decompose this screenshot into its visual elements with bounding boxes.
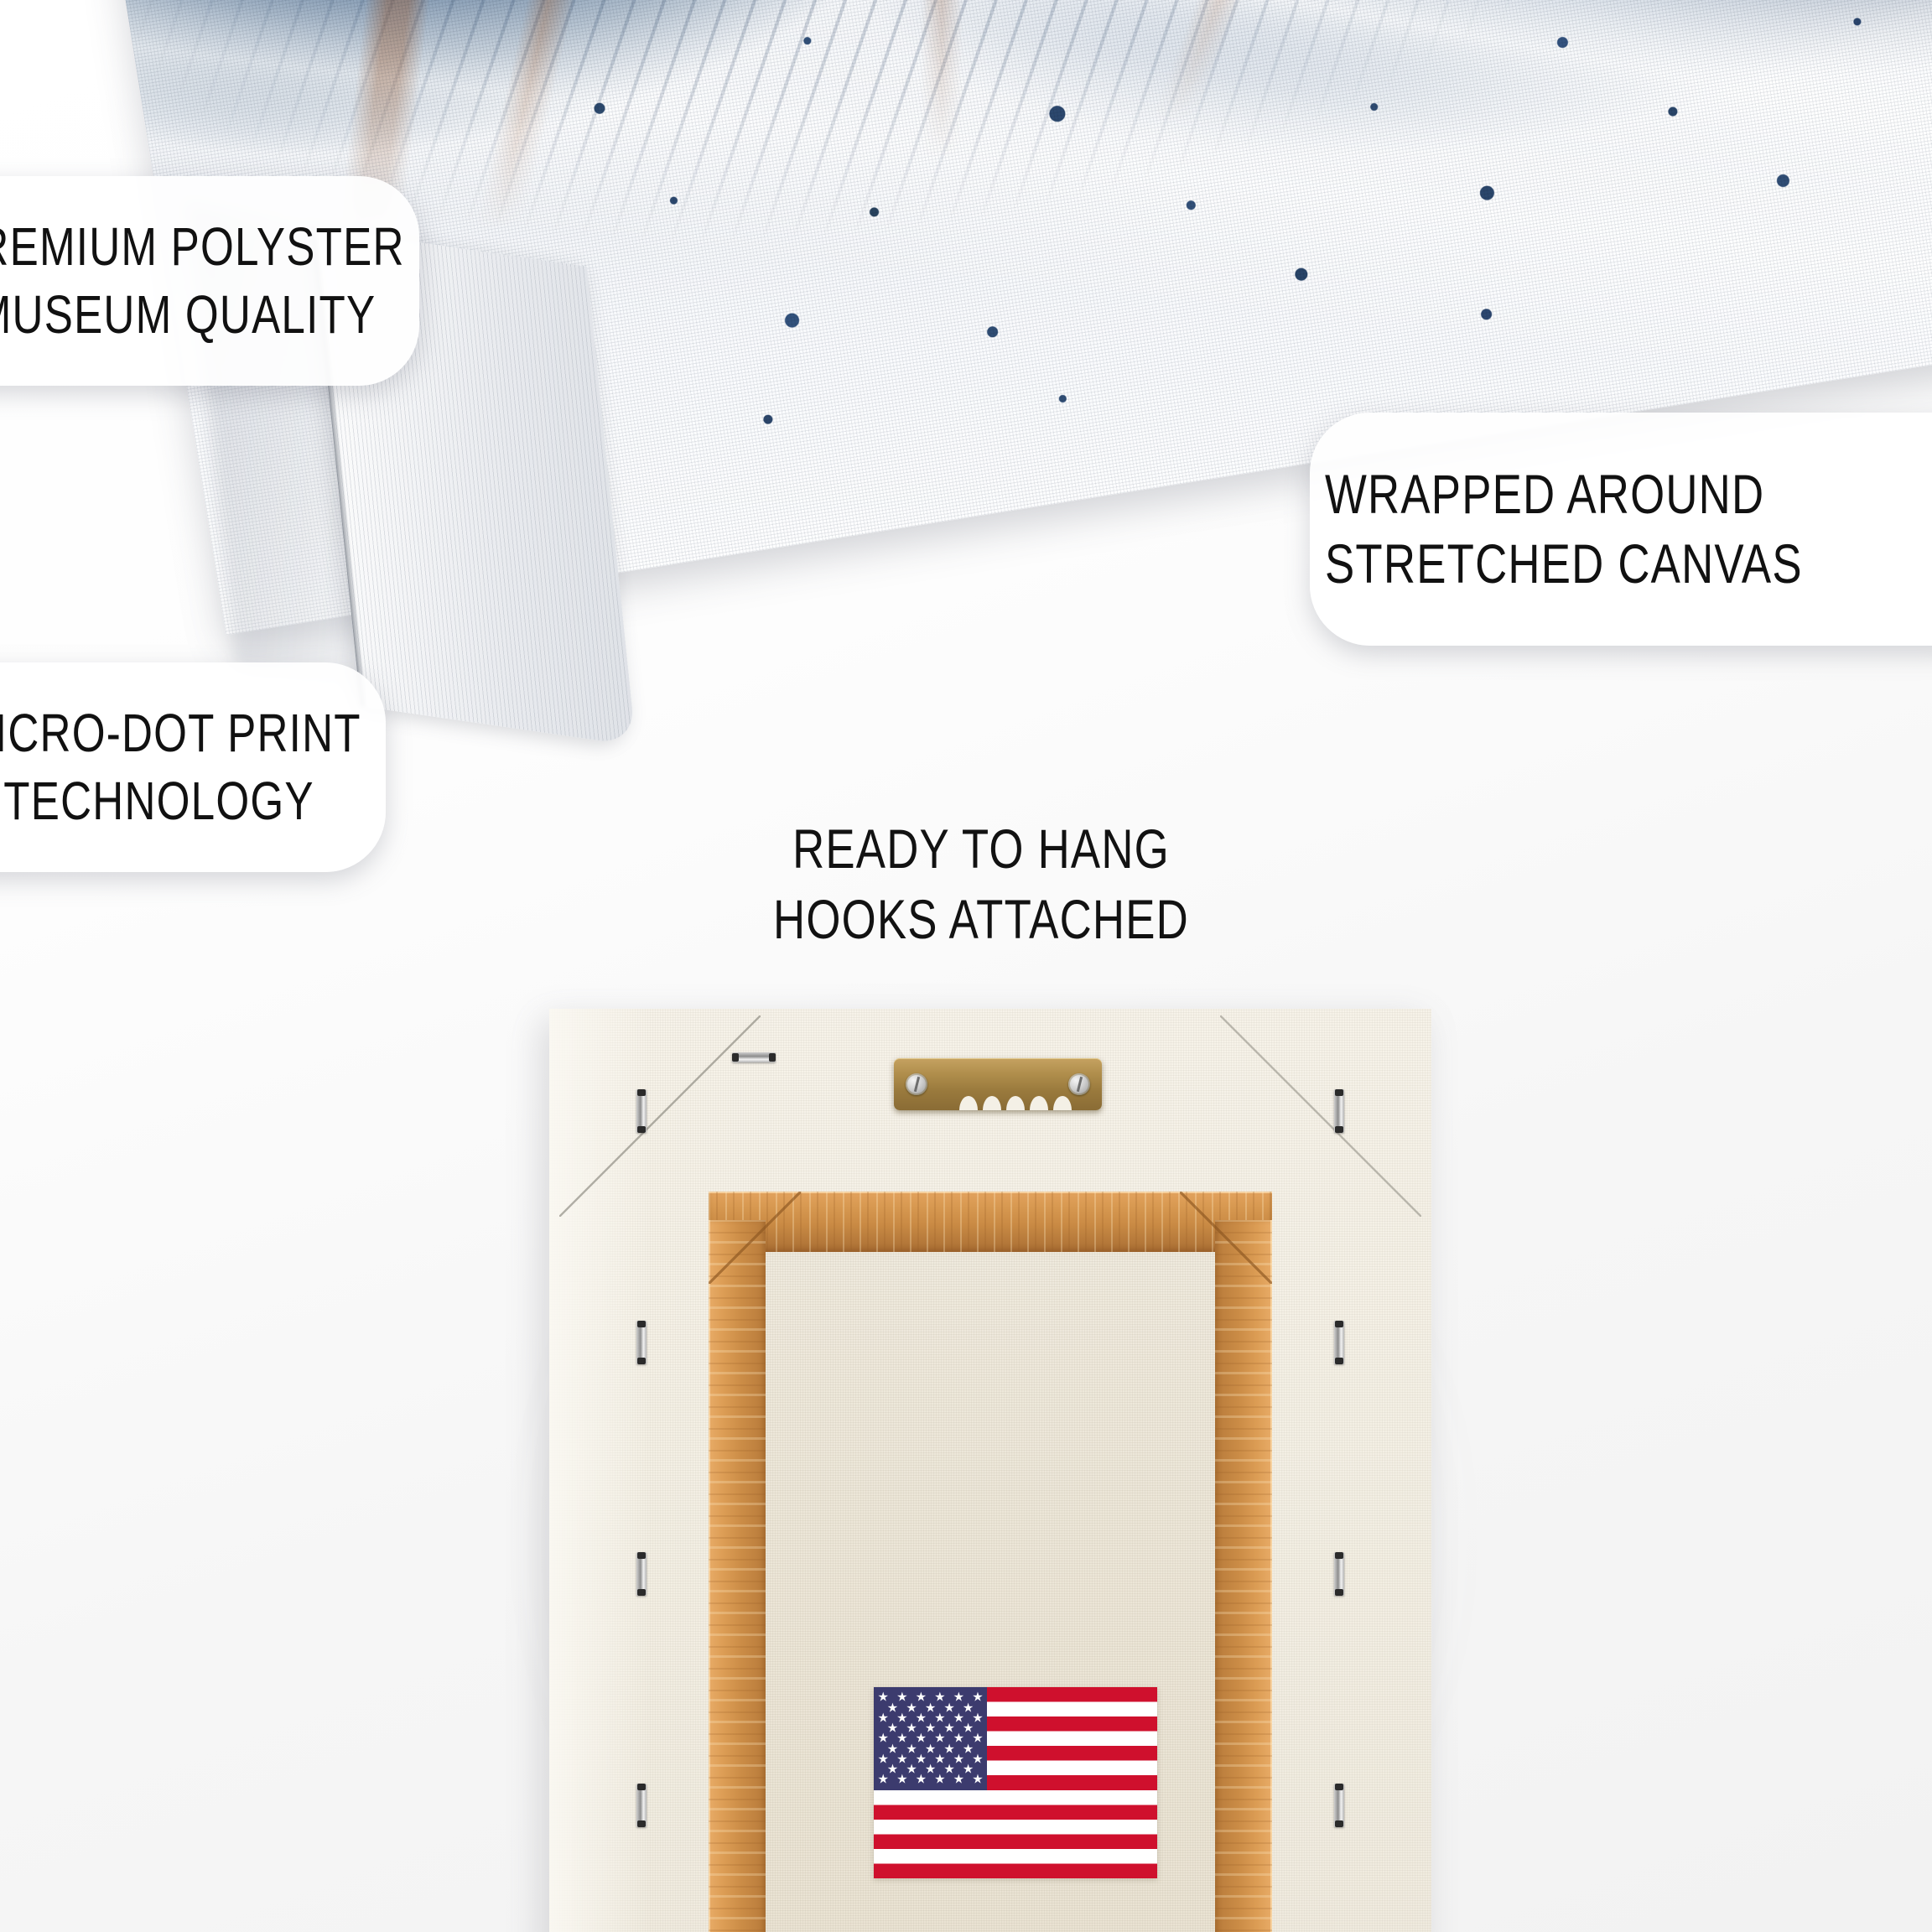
feature-label-line-1: WRAPPED AROUND <box>1325 460 1764 529</box>
feature-label-micro-dot-print: MICRO-DOT PRINT TECHNOLOGY <box>0 662 386 872</box>
stretcher-miter-right <box>1180 1192 1272 1284</box>
feature-label-premium-polyster: PREMIUM POLYSTER MUSEUM QUALITY <box>0 176 419 386</box>
sawtooth-hanger <box>894 1058 1102 1110</box>
staple <box>732 1052 776 1062</box>
stretcher-miter-left <box>709 1192 801 1284</box>
feature-label-ready-to-hang: READY TO HANG HOOKS ATTACHED <box>662 813 1300 955</box>
flag-stars: ★★★★★★★★★★★★★★★★★★★★★★★★★★★★★★★★★★★★★★★★… <box>874 1687 1157 1878</box>
wood-grain <box>1215 1220 1272 1932</box>
staple <box>636 1089 647 1133</box>
stretcher-bar-right <box>1215 1220 1272 1932</box>
infographic-canvas: PREMIUM POLYSTER MUSEUM QUALITY MICRO-DO… <box>0 0 1932 1932</box>
staple <box>1334 1552 1344 1596</box>
feature-label-line-2: MUSEUM QUALITY <box>0 281 377 349</box>
hanger-screw-left <box>906 1073 927 1095</box>
staple <box>1334 1784 1344 1827</box>
feature-label-wrapped-around: WRAPPED AROUND STRETCHED CANVAS <box>1310 413 1932 646</box>
feature-label-line-2: HOOKS ATTACHED <box>726 884 1236 954</box>
hanger-screw-right <box>1068 1073 1090 1095</box>
wood-grain <box>709 1220 766 1932</box>
staple <box>1334 1321 1344 1364</box>
feature-label-line-2: STRETCHED CANVAS <box>1325 529 1803 599</box>
staple <box>1334 1089 1344 1133</box>
canvas-fold-line-top-left <box>559 1015 761 1217</box>
feature-label-line-1: READY TO HANG <box>726 813 1236 884</box>
staple <box>636 1784 647 1827</box>
feature-label-line-1: MICRO-DOT PRINT <box>0 699 361 767</box>
feature-label-line-2: TECHNOLOGY <box>4 767 314 835</box>
feature-label-line-1: PREMIUM POLYSTER <box>0 213 404 281</box>
staple <box>636 1321 647 1364</box>
stretcher-bar-left <box>709 1220 766 1932</box>
canvas-fold-line-top-right <box>1220 1015 1421 1217</box>
usa-flag-icon: ★★★★★★★★★★★★★★★★★★★★★★★★★★★★★★★★★★★★★★★★… <box>874 1687 1157 1878</box>
staple <box>636 1552 647 1596</box>
